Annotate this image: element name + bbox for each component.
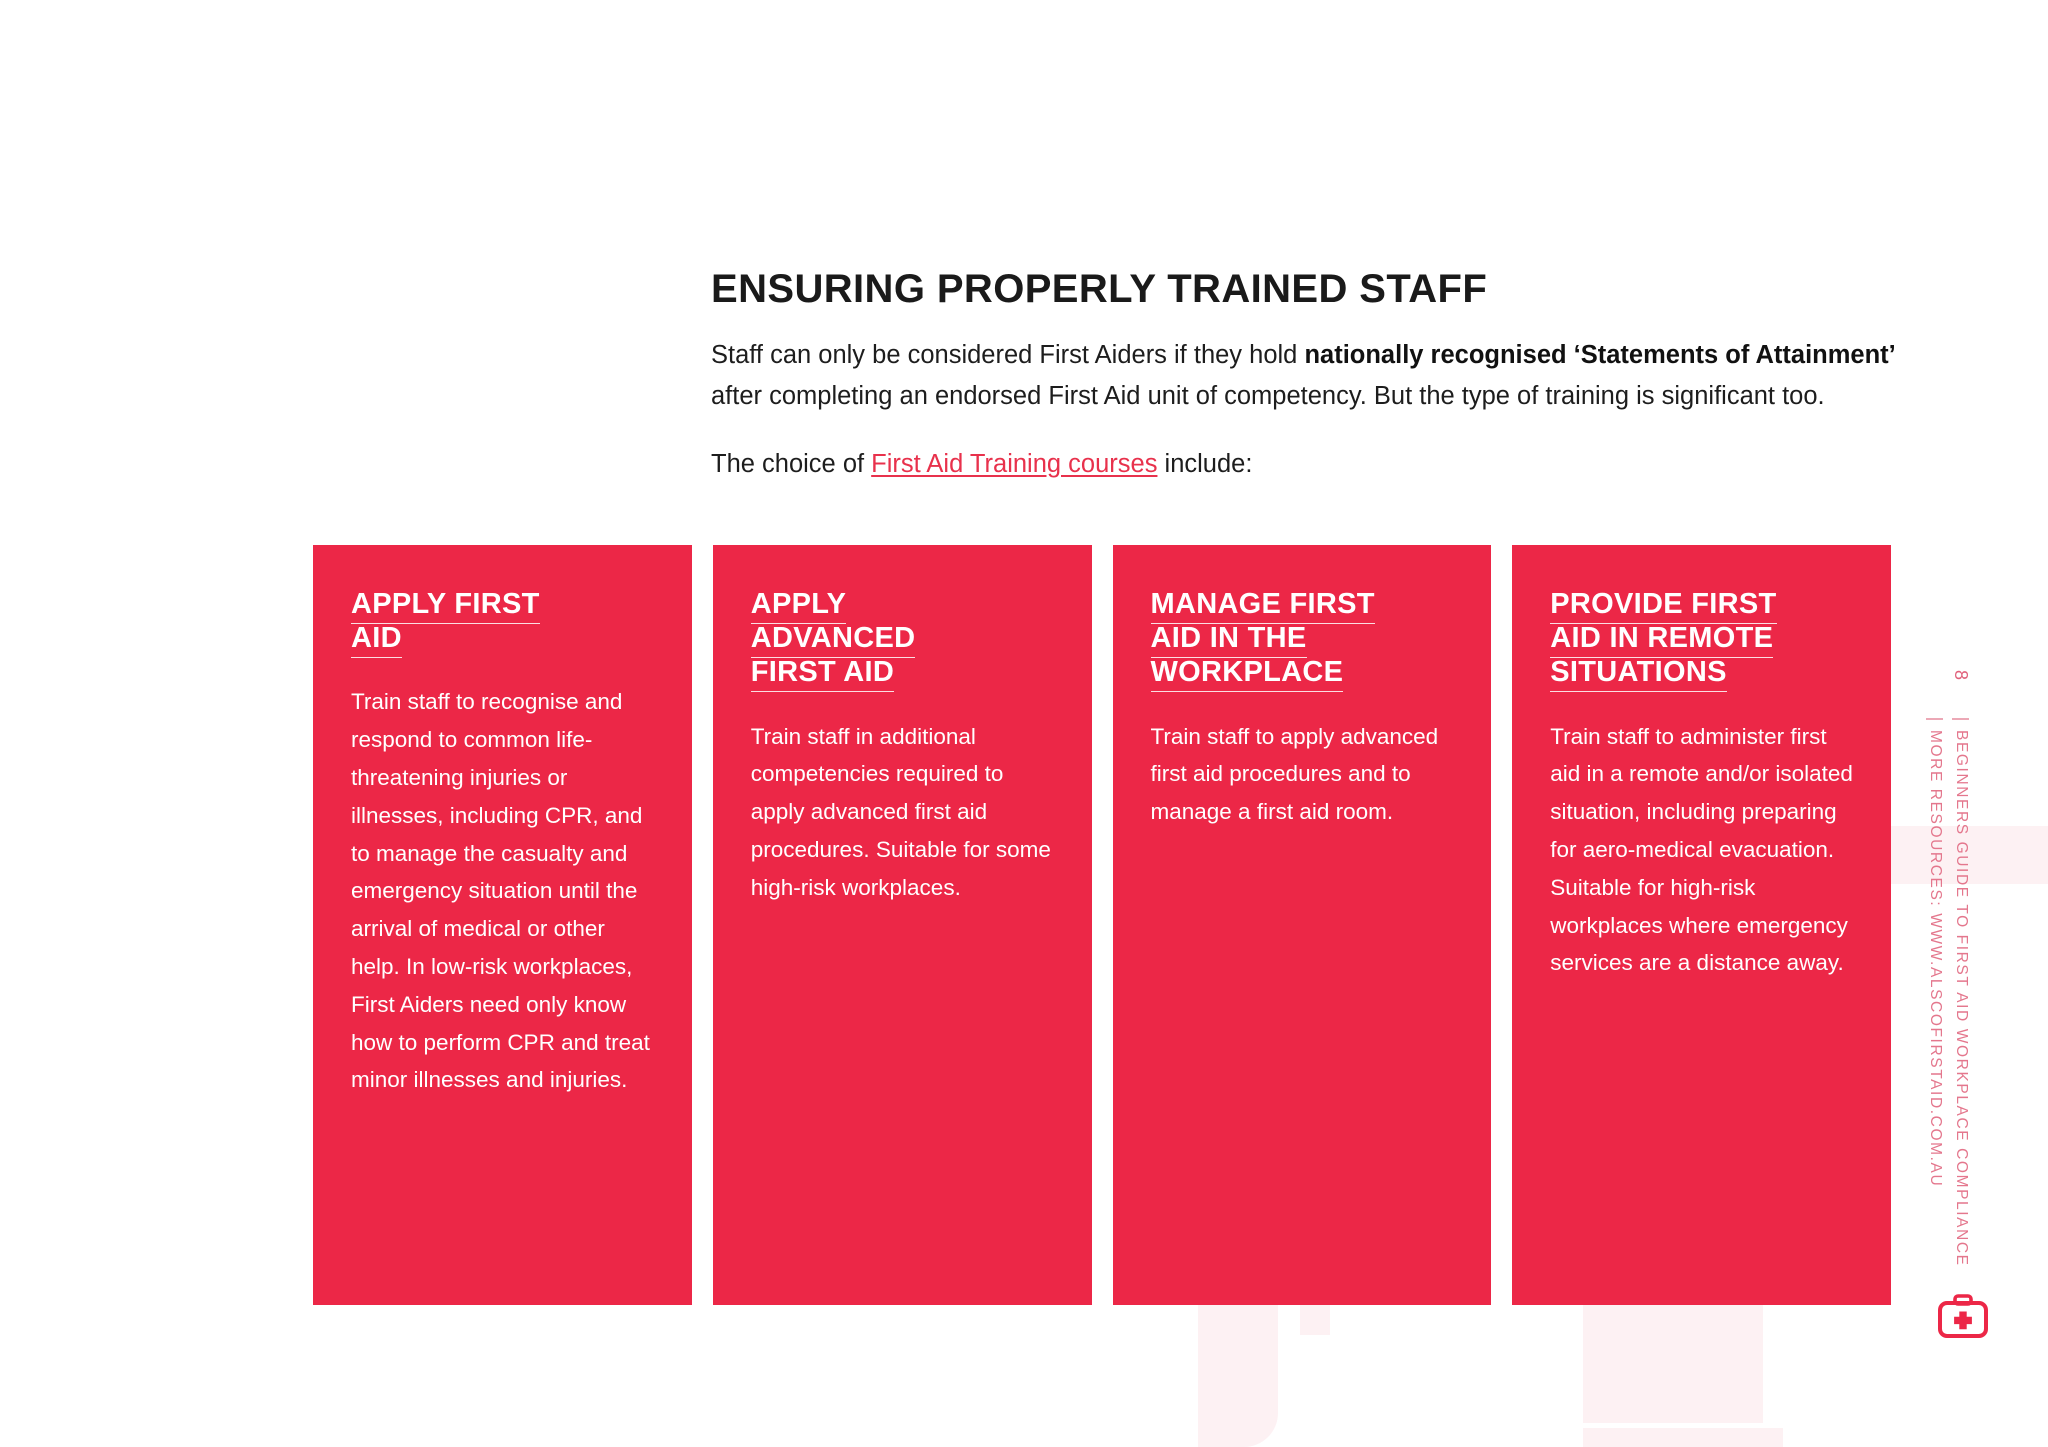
course-card[interactable]: PROVIDE FIRST AID IN REMOTE SITUATIONS T… [1512,545,1891,1305]
rail-divider-primary [1952,718,1969,720]
decor-column-b [1300,1305,1330,1335]
intro-text-part2: after completing an endorsed First Aid u… [711,382,1825,410]
intro-paragraph: Staff can only be considered First Aider… [711,335,1901,418]
course-card-title: APPLY ADVANCED FIRST AID [751,587,1058,690]
course-card-body: Train staff in additional competencies r… [751,718,1058,907]
course-card-body: Train staff to recognise and respond to … [351,683,658,1099]
intro-bold-phrase: nationally recognised ‘Statements of Att… [1304,341,1895,369]
lead-paragraph: The choice of First Aid Training courses… [711,444,1901,485]
course-card-title: MANAGE FIRST AID IN THE WORKPLACE [1151,587,1458,690]
page-title: ENSURING PROPERLY TRAINED STAFF [711,268,1901,311]
rail-divider-secondary [1926,718,1943,720]
course-card-title-line: WORKPLACE [1151,656,1344,692]
page-number: 8 [1950,670,1971,681]
course-card-title-line: AID IN THE [1151,622,1307,658]
course-card-title-line: PROVIDE FIRST [1550,588,1776,624]
course-card-title-line: MANAGE FIRST [1151,588,1375,624]
course-card-list: APPLY FIRST AID Train staff to recognise… [313,545,1891,1305]
course-card[interactable]: APPLY FIRST AID Train staff to recognise… [313,545,692,1305]
intro-section: ENSURING PROPERLY TRAINED STAFF Staff ca… [711,268,1901,485]
rail-guide-text: BEGINNERS GUIDE TO FIRST AID WORKPLACE C… [1952,730,1970,1267]
first-aid-kit-icon [1935,1290,1991,1346]
course-card-title: PROVIDE FIRST AID IN REMOTE SITUATIONS [1550,587,1857,690]
decor-column-d [1583,1428,1783,1447]
course-card-title: APPLY FIRST AID [351,587,658,655]
course-card-body: Train staff to administer first aid in a… [1550,718,1857,983]
decor-column-a [1198,1305,1278,1447]
side-rail: 8 BEGINNERS GUIDE TO FIRST AID WORKPLACE… [1898,0,2048,1447]
course-card-title-line: SITUATIONS [1550,656,1726,692]
lead-text-before: The choice of [711,450,871,478]
intro-text-part1: Staff can only be considered First Aider… [711,341,1304,369]
course-card-title-line: APPLY FIRST [351,588,540,624]
rail-resources-text: MORE RESOURCES: WWW.ALSCOFIRSTAID.COM.AU [1926,730,1944,1187]
course-card-title-line: AID IN REMOTE [1550,622,1773,658]
lead-text-after: include: [1157,450,1252,478]
course-card-title-line: FIRST AID [751,656,894,692]
course-card-title-line: APPLY [751,588,847,624]
course-card-body: Train staff to apply advanced first aid … [1151,718,1458,831]
course-card[interactable]: APPLY ADVANCED FIRST AID Train staff in … [713,545,1092,1305]
first-aid-training-courses-link[interactable]: First Aid Training courses [871,450,1157,478]
course-card-title-line: ADVANCED [751,622,916,658]
course-card-title-line: AID [351,622,402,658]
document-page: ENSURING PROPERLY TRAINED STAFF Staff ca… [0,0,2048,1447]
decor-column-c [1583,1305,1763,1423]
course-card[interactable]: MANAGE FIRST AID IN THE WORKPLACE Train … [1113,545,1492,1305]
